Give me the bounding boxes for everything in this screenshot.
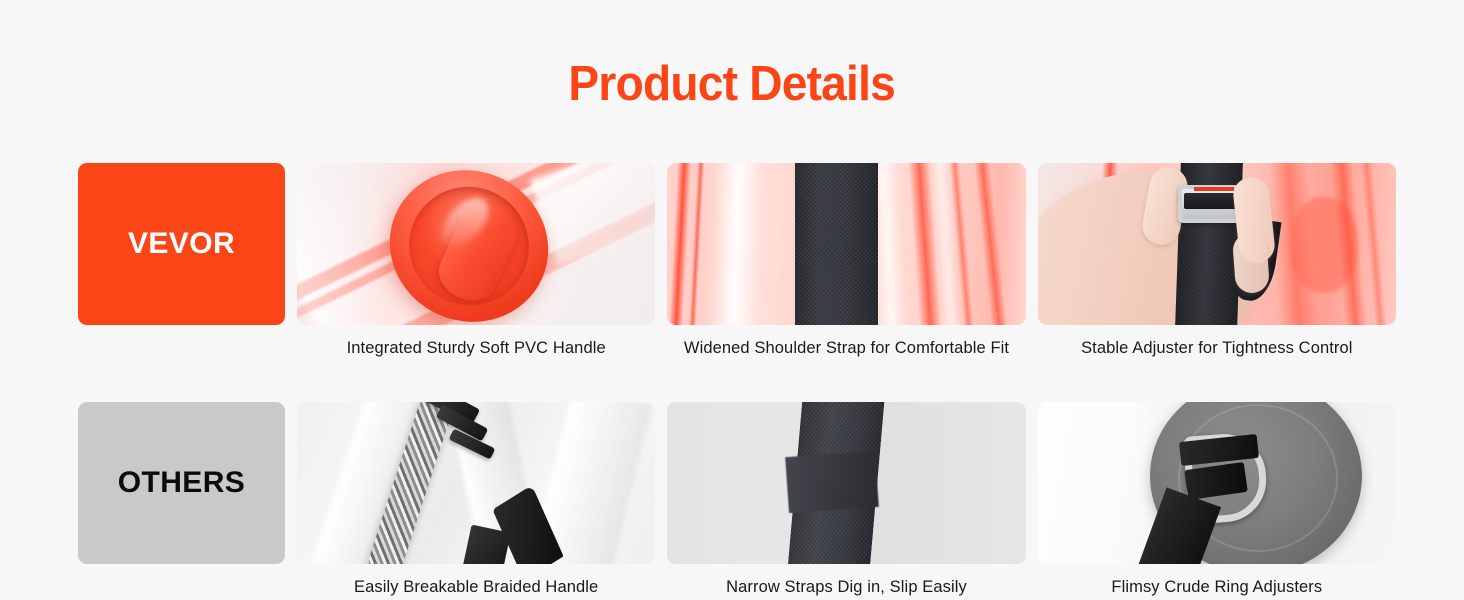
red-vinyl-band xyxy=(973,163,1009,325)
feature-cell-others-2: Narrow Straps Dig in, Slip Easily xyxy=(667,402,1025,597)
background-highlight xyxy=(1038,402,1148,564)
brand-badge-vevor-label: VEVOR xyxy=(128,227,235,261)
red-pvc-handle-photo xyxy=(297,163,655,325)
feature-cell-vevor-2: Widened Shoulder Strap for Comfortable F… xyxy=(667,163,1025,358)
feature-cell-vevor-3: Stable Adjuster for Tightness Control xyxy=(1038,163,1396,358)
comparison-row-others: OTHERS Easily Breakable Braided Handle xyxy=(78,402,1396,597)
brand-badge-others-label: OTHERS xyxy=(118,466,245,500)
badge-cell-vevor: VEVOR xyxy=(78,163,285,325)
feature-cell-vevor-1: Integrated Sturdy Soft PVC Handle xyxy=(297,163,655,358)
feature-cell-others-1: Easily Breakable Braided Handle xyxy=(297,402,655,597)
feature-caption: Stable Adjuster for Tightness Control xyxy=(1038,339,1396,358)
red-vinyl-band xyxy=(688,163,705,325)
strap-bend-shadow xyxy=(785,451,879,513)
comparison-grid: VEVOR xyxy=(78,163,1396,597)
feature-caption: Flimsy Crude Ring Adjusters xyxy=(1038,578,1396,597)
red-vinyl-band xyxy=(668,163,692,325)
page-title-container: Product Details xyxy=(0,60,1464,109)
d-ring-adjuster-photo xyxy=(1038,402,1396,564)
comparison-row-vevor: VEVOR xyxy=(78,163,1396,358)
narrow-black-strap-photo xyxy=(667,402,1025,564)
feature-caption: Easily Breakable Braided Handle xyxy=(297,578,655,597)
brand-badge-others: OTHERS xyxy=(78,402,285,564)
metal-slide-adjuster-photo xyxy=(1038,163,1396,325)
brand-badge-vevor: VEVOR xyxy=(78,163,285,325)
badge-cell-others: OTHERS xyxy=(78,402,285,564)
feature-cell-others-3: Flimsy Crude Ring Adjusters xyxy=(1038,402,1396,597)
strap-end xyxy=(459,524,511,564)
wide-woven-strap xyxy=(795,163,878,325)
buckle-red-accent xyxy=(1194,187,1234,191)
middle-finger xyxy=(1232,232,1270,294)
vinyl-highlight-band xyxy=(710,163,763,325)
feature-caption: Narrow Straps Dig in, Slip Easily xyxy=(667,578,1025,597)
feature-caption: Integrated Sturdy Soft PVC Handle xyxy=(297,339,655,358)
page-title: Product Details xyxy=(569,60,896,109)
product-details-page: Product Details VEVOR xyxy=(0,0,1464,600)
feature-caption: Widened Shoulder Strap for Comfortable F… xyxy=(667,339,1025,358)
wide-black-shoulder-strap-photo xyxy=(667,163,1025,325)
braided-rope-handle-photo xyxy=(297,402,655,564)
